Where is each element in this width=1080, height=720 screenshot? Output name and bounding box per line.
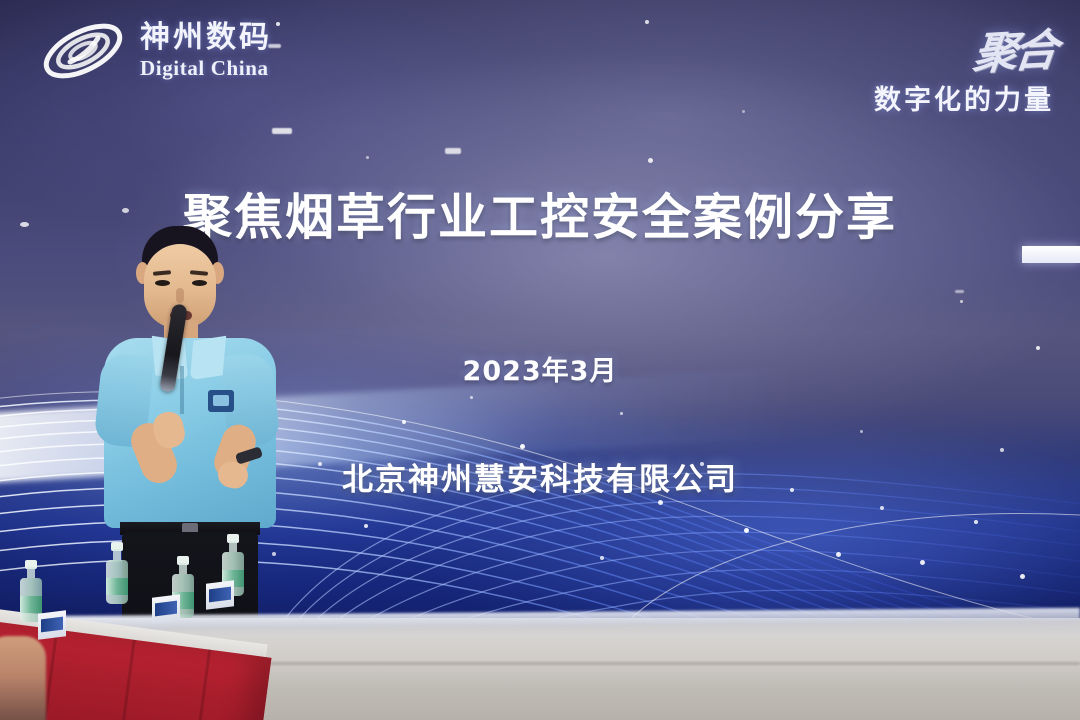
presenter-eye-left — [155, 280, 170, 286]
juhe-tagline: 数字化的力量 — [874, 78, 1054, 117]
presenter-chest-logo-badge — [208, 390, 234, 412]
screen-edge-marker — [1022, 246, 1080, 263]
foreground-attendee — [0, 636, 46, 720]
name-card — [152, 594, 180, 623]
presenter-eye-right — [192, 280, 207, 286]
name-card — [38, 610, 66, 639]
presenter-shirt-placket — [180, 366, 184, 414]
event-logo-juhe: 聚合 数字化的力量 — [874, 16, 1054, 117]
juhe-art-word: 聚合 — [970, 14, 1057, 82]
conference-stage-photo: 神州数码 Digital China 聚合 数字化的力量 聚焦烟草行业工控安全案… — [0, 0, 1080, 720]
water-bottle — [106, 542, 128, 604]
digital-china-name-en: Digital China — [140, 58, 272, 79]
presenter-collar-right — [190, 336, 226, 381]
digital-china-logo: 神州数码 Digital China — [40, 18, 272, 84]
digital-china-swirl-icon — [40, 18, 126, 84]
presenter-nose — [176, 288, 184, 303]
digital-china-name-cn: 神州数码 — [140, 23, 272, 53]
name-card — [206, 580, 234, 609]
